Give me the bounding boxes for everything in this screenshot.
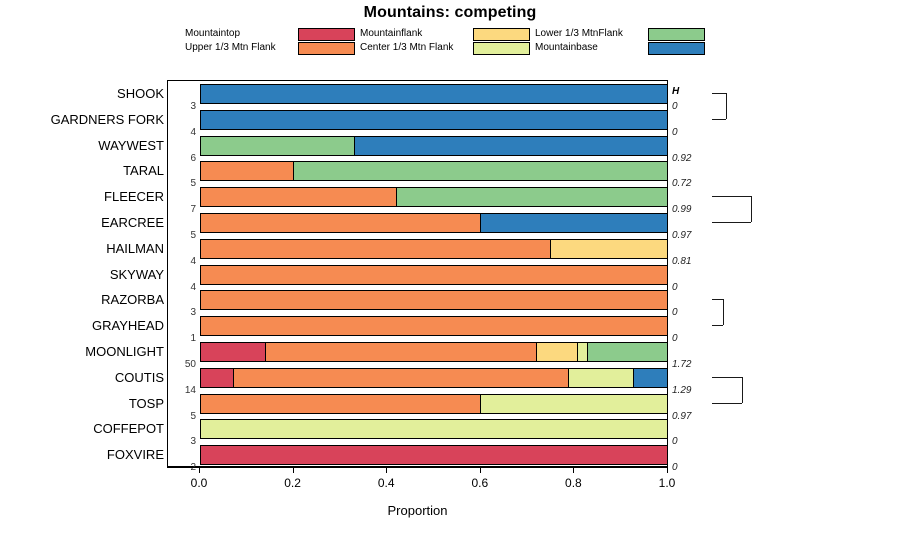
bar-segment-lower[interactable] <box>397 188 667 206</box>
row-n-value: 4 <box>172 128 196 138</box>
x-tick <box>199 467 200 473</box>
bar-row[interactable] <box>168 290 667 310</box>
bar-row[interactable] <box>168 213 667 233</box>
stacked-bar[interactable] <box>200 290 668 310</box>
x-tick <box>667 467 668 473</box>
dendro-branch <box>712 299 723 300</box>
bar-segment-upper[interactable] <box>201 395 481 413</box>
row-label-earcree: EARCREE <box>0 216 164 229</box>
x-tick <box>480 467 481 473</box>
bar-segment-upper[interactable] <box>201 317 667 335</box>
legend-swatch-mountainflank <box>473 28 530 41</box>
stacked-bar[interactable] <box>200 161 668 181</box>
bar-segment-upper[interactable] <box>201 240 551 258</box>
bar-segment-mountaintop[interactable] <box>201 446 667 464</box>
x-tick <box>386 467 387 473</box>
stacked-bar[interactable] <box>200 368 668 388</box>
row-n-value: 14 <box>172 386 196 396</box>
x-tick-label: 0.0 <box>179 476 219 490</box>
dendro-branch <box>712 325 723 326</box>
row-n-value: 3 <box>172 437 196 447</box>
row-label-moonlight: MOONLIGHT <box>0 345 164 358</box>
legend-swatch-mountainbase <box>648 42 705 55</box>
dendrogram <box>700 80 898 467</box>
bar-row[interactable] <box>168 368 667 388</box>
bar-segment-flank[interactable] <box>551 240 668 258</box>
row-n-value: 50 <box>172 360 196 370</box>
legend-swatch-upper-third <box>298 42 355 55</box>
bar-row[interactable] <box>168 316 667 336</box>
x-tick-label: 0.8 <box>553 476 593 490</box>
legend-swatch-lower-third <box>648 28 705 41</box>
bar-segment-upper[interactable] <box>234 369 570 387</box>
bar-segment-base[interactable] <box>355 137 667 155</box>
row-label-gardners-fork: GARDNERS FORK <box>0 113 164 126</box>
legend-label-mountainbase: Mountainbase <box>535 41 598 54</box>
bar-row[interactable] <box>168 187 667 207</box>
column-header-h: H <box>672 86 679 97</box>
dendro-connector <box>723 299 724 325</box>
stacked-bar[interactable] <box>200 419 668 439</box>
dendro-connector <box>742 377 743 403</box>
row-label-taral: TARAL <box>0 164 164 177</box>
legend-swatch-mountaintop <box>298 28 355 41</box>
row-label-razorba: RAZORBA <box>0 293 164 306</box>
bar-segment-upper[interactable] <box>201 291 667 309</box>
stacked-bar[interactable] <box>200 213 668 233</box>
bar-segment-center[interactable] <box>481 395 667 413</box>
bar-segment-base[interactable] <box>481 214 667 232</box>
bar-row[interactable] <box>168 161 667 181</box>
bar-segment-flank[interactable] <box>537 343 579 361</box>
dendro-branch <box>712 222 751 223</box>
bar-segment-lower[interactable] <box>294 162 667 180</box>
page-title: Mountains: competing <box>0 4 900 22</box>
bar-segment-base[interactable] <box>634 369 667 387</box>
row-n-value: 2 <box>172 463 196 473</box>
bar-segment-lower[interactable] <box>588 343 667 361</box>
bar-rows <box>168 81 667 466</box>
bar-segment-center[interactable] <box>201 420 667 438</box>
x-tick <box>573 467 574 473</box>
row-label-tosp: TOSP <box>0 397 164 410</box>
dendro-branch <box>712 93 726 94</box>
row-n-value: 5 <box>172 179 196 189</box>
stacked-bar[interactable] <box>200 239 668 259</box>
plot-panel <box>167 80 668 467</box>
bar-row[interactable] <box>168 265 667 285</box>
stacked-bar[interactable] <box>200 265 668 285</box>
stacked-bar[interactable] <box>200 187 668 207</box>
row-n-value: 5 <box>172 412 196 422</box>
stacked-bar[interactable] <box>200 84 668 104</box>
stacked-bar[interactable] <box>200 394 668 414</box>
x-tick-label: 0.2 <box>273 476 313 490</box>
bar-row[interactable] <box>168 136 667 156</box>
dendro-branch <box>712 403 742 404</box>
legend-label-upper-third: Upper 1/3 Mtn Flank <box>185 41 276 54</box>
row-label-fleecer: FLEECER <box>0 190 164 203</box>
x-axis-title: Proportion <box>167 503 668 518</box>
bar-segment-mountaintop[interactable] <box>201 343 266 361</box>
x-tick <box>293 467 294 473</box>
row-n-value: 4 <box>172 257 196 267</box>
bar-segment-mountaintop[interactable] <box>201 369 234 387</box>
row-label-skyway: SKYWAY <box>0 268 164 281</box>
row-n-value: 3 <box>172 102 196 112</box>
stacked-bar[interactable] <box>200 316 668 336</box>
chart-root: Mountains: competing Mountaintop Upper 1… <box>0 0 900 540</box>
bar-segment-lower[interactable] <box>201 137 355 155</box>
bar-segment-upper[interactable] <box>201 188 397 206</box>
legend-label-mountaintop: Mountaintop <box>185 27 240 40</box>
stacked-bar[interactable] <box>200 110 668 130</box>
x-tick-label: 1.0 <box>647 476 687 490</box>
bar-segment-base[interactable] <box>201 111 667 129</box>
legend: Mountaintop Upper 1/3 Mtn Flank Mountain… <box>185 27 705 57</box>
bar-row[interactable] <box>168 342 667 362</box>
stacked-bar[interactable] <box>200 342 668 362</box>
row-label-grayhead: GRAYHEAD <box>0 319 164 332</box>
bar-row[interactable] <box>168 110 667 130</box>
row-label-waywest: WAYWEST <box>0 139 164 152</box>
bar-segment-upper[interactable] <box>266 343 536 361</box>
legend-label-lower-third: Lower 1/3 MtnFlank <box>535 27 623 40</box>
bar-segment-upper[interactable] <box>201 214 481 232</box>
bar-segment-center[interactable] <box>578 343 587 361</box>
legend-swatch-center-third <box>473 42 530 55</box>
bar-row[interactable] <box>168 394 667 414</box>
row-n-value: 5 <box>172 231 196 241</box>
bar-segment-base[interactable] <box>201 85 667 103</box>
x-tick-label: 0.4 <box>366 476 406 490</box>
dendro-connector <box>726 93 727 119</box>
stacked-bar[interactable] <box>200 445 668 465</box>
legend-label-mountainflank: Mountainflank <box>360 27 422 40</box>
bar-row[interactable] <box>168 84 667 104</box>
row-label-shook: SHOOK <box>0 87 164 100</box>
bar-row[interactable] <box>168 239 667 259</box>
bar-segment-upper[interactable] <box>201 266 667 284</box>
row-n-value: 7 <box>172 205 196 215</box>
stacked-bar[interactable] <box>200 136 668 156</box>
bar-row[interactable] <box>168 419 667 439</box>
dendro-connector <box>751 196 752 222</box>
dendro-branch <box>712 196 751 197</box>
row-label-hailman: HAILMAN <box>0 242 164 255</box>
x-tick-label: 0.6 <box>460 476 500 490</box>
row-label-foxvire: FOXVIRE <box>0 448 164 461</box>
bar-segment-upper[interactable] <box>201 162 294 180</box>
row-label-coffepot: COFFEPOT <box>0 422 164 435</box>
x-axis-line <box>167 467 668 468</box>
legend-label-center-third: Center 1/3 Mtn Flank <box>360 41 453 54</box>
dendro-branch <box>712 119 726 120</box>
row-n-value: 1 <box>172 334 196 344</box>
row-n-value: 6 <box>172 154 196 164</box>
row-label-coutis: COUTIS <box>0 371 164 384</box>
row-n-value: 4 <box>172 283 196 293</box>
row-n-value: 3 <box>172 308 196 318</box>
dendro-branch <box>712 377 742 378</box>
bar-segment-center[interactable] <box>569 369 634 387</box>
bar-row[interactable] <box>168 445 667 465</box>
